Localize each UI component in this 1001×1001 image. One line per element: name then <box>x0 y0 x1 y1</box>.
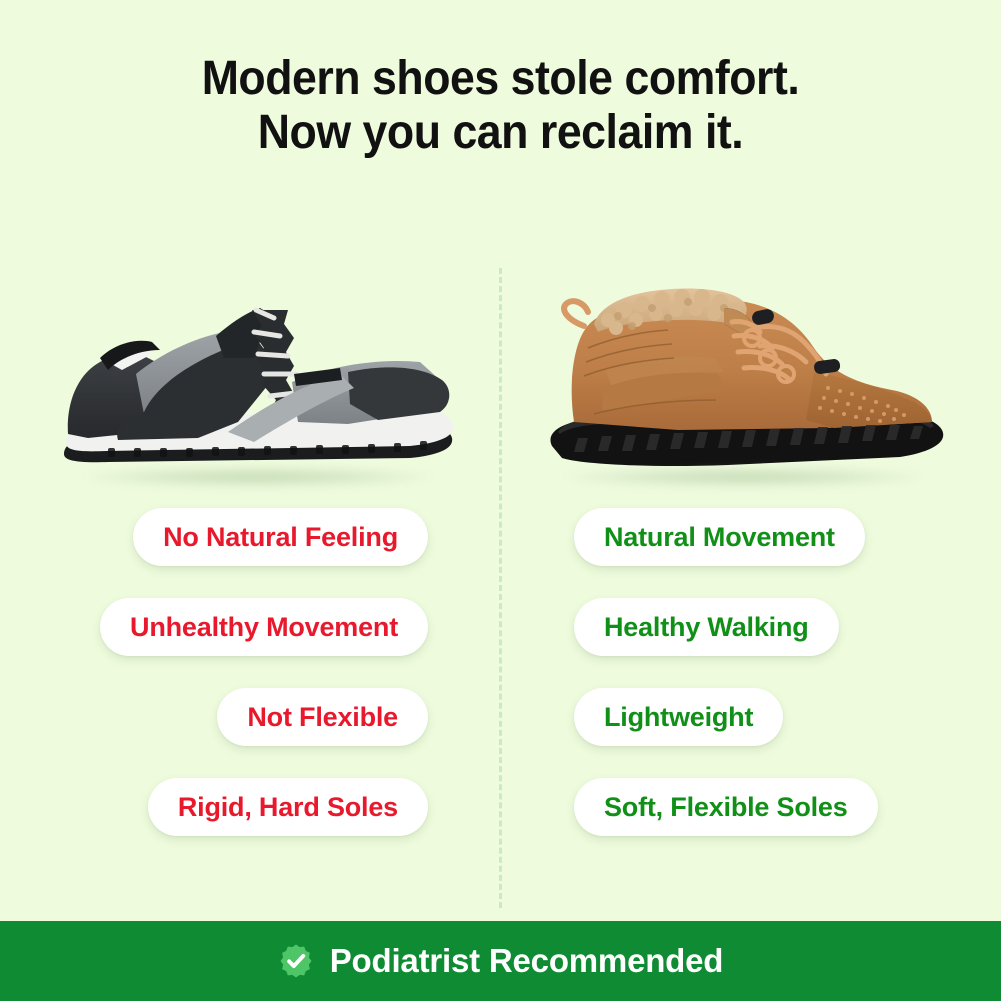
verified-check-badge-icon <box>278 943 314 979</box>
left-feature-list: No Natural Feeling Unhealthy Movement No… <box>0 508 470 836</box>
page-title: Modern shoes stole comfort. Now you can … <box>35 52 966 160</box>
list-item[interactable]: Natural Movement <box>574 508 865 566</box>
headline-line-1: Modern shoes stole comfort. <box>35 52 966 106</box>
list-item[interactable]: Lightweight <box>574 688 783 746</box>
promo-graphic-root: Modern shoes stole comfort. Now you can … <box>0 0 1001 1001</box>
list-item[interactable]: No Natural Feeling <box>133 508 428 566</box>
podiatrist-recommended-banner: Podiatrist Recommended <box>0 921 1001 1001</box>
banner-label: Podiatrist Recommended <box>330 942 724 980</box>
modern-sneaker-illustration <box>48 262 468 492</box>
list-item[interactable]: Rigid, Hard Soles <box>148 778 428 836</box>
headline-line-2: Now you can reclaim it. <box>35 106 966 160</box>
left-product-image <box>48 262 468 492</box>
list-item[interactable]: Healthy Walking <box>574 598 839 656</box>
barefoot-boot-illustration <box>528 262 960 492</box>
list-item[interactable]: Not Flexible <box>217 688 428 746</box>
right-feature-list: Natural Movement Healthy Walking Lightwe… <box>530 508 1000 836</box>
list-item[interactable]: Soft, Flexible Soles <box>574 778 878 836</box>
comparison-divider <box>499 268 502 908</box>
right-product-image <box>528 262 960 492</box>
right-shoe-ground-shadow <box>563 466 926 488</box>
list-item[interactable]: Unhealthy Movement <box>100 598 428 656</box>
left-shoe-ground-shadow <box>82 466 435 488</box>
